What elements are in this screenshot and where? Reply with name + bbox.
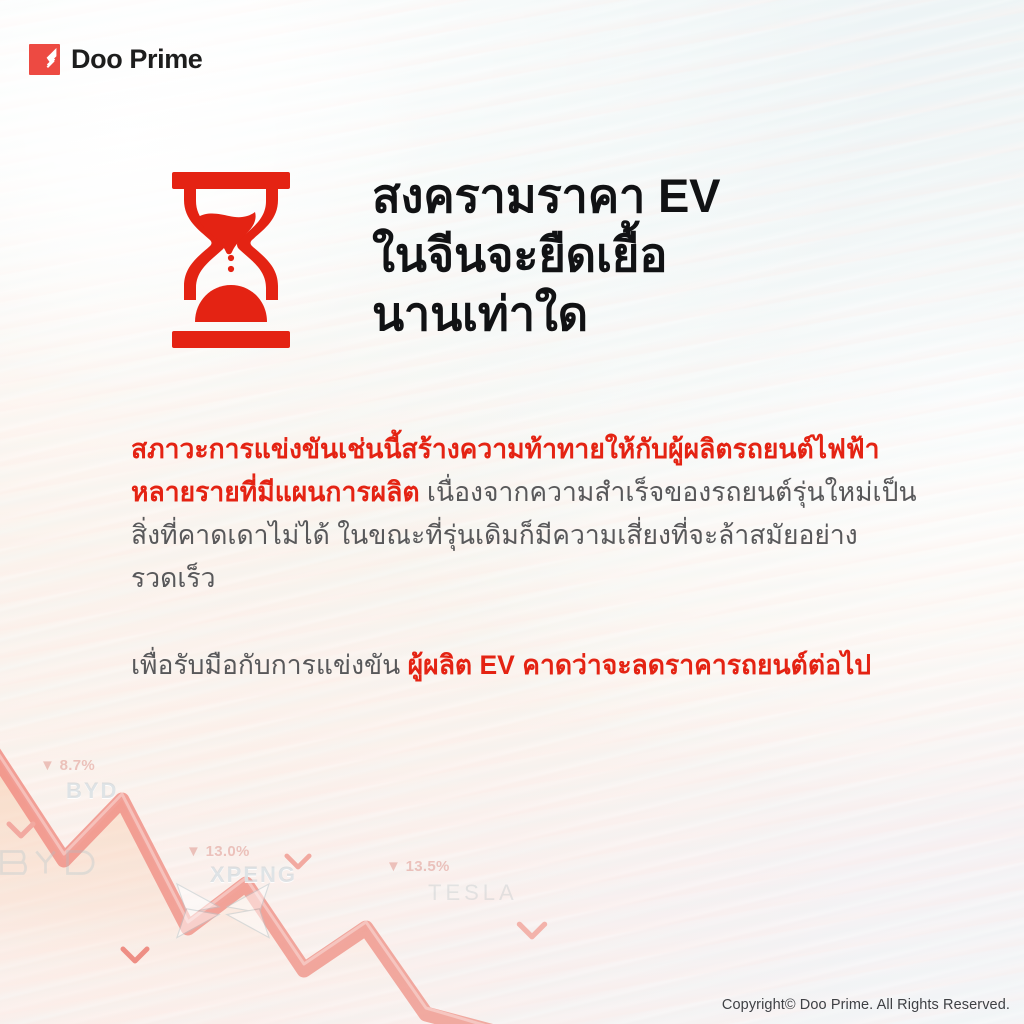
deco-stock-pct-tesla: ▼ 13.5% — [386, 858, 450, 875]
paragraph-2-lead: เพื่อรับมือกับการแข่งขัน — [131, 650, 408, 680]
brand-logo-text: Doo Prime — [71, 46, 202, 73]
byd-wordmark-icon — [0, 846, 106, 880]
hero-section: สงครามราคา EV ในจีนจะยืดเยื้อ นานเท่าใด — [168, 166, 928, 350]
deco-stock-name-xpeng: XPENG — [210, 862, 297, 888]
xpeng-x-icon — [175, 880, 271, 942]
chevron-down-icon — [284, 852, 312, 871]
deco-stock-name-byd: BYD — [66, 778, 118, 804]
paragraph-1: สภาวะการแข่งขันเช่นนี้สร้างความท้าทายให้… — [131, 428, 921, 600]
copyright-notice: Copyright© Doo Prime. All Rights Reserve… — [722, 997, 1010, 1013]
page-title: สงครามราคา EV ในจีนจะยืดเยื้อ นานเท่าใด — [372, 166, 720, 344]
doo-prime-square-mark-icon — [29, 44, 60, 75]
chevron-down-icon — [120, 945, 150, 965]
poster-canvas: ▼ 8.7% BYD ▼ 13.0% XPENG ▼ 13.5% TESLA D… — [0, 0, 1024, 1024]
paragraph-2: เพื่อรับมือกับการแข่งขัน ผู้ผลิต EV คาดว… — [131, 644, 921, 687]
decorative-stock-chart — [0, 732, 594, 1024]
paragraph-2-highlight: ผู้ผลิต EV คาดว่าจะลดราคารถยนต์ต่อไป — [408, 650, 872, 680]
deco-stock-pct-xpeng: ▼ 13.0% — [186, 843, 250, 860]
chevron-down-icon — [6, 820, 36, 840]
chevron-down-icon — [516, 920, 548, 941]
body-copy: สภาวะการแข่งขันเช่นนี้สร้างความท้าทายให้… — [131, 428, 921, 687]
deco-stock-pct-byd: ▼ 8.7% — [40, 757, 95, 774]
brand-logo[interactable]: Doo Prime — [29, 44, 202, 75]
hourglass-icon — [168, 170, 294, 350]
deco-stock-name-tesla: TESLA — [428, 880, 518, 906]
